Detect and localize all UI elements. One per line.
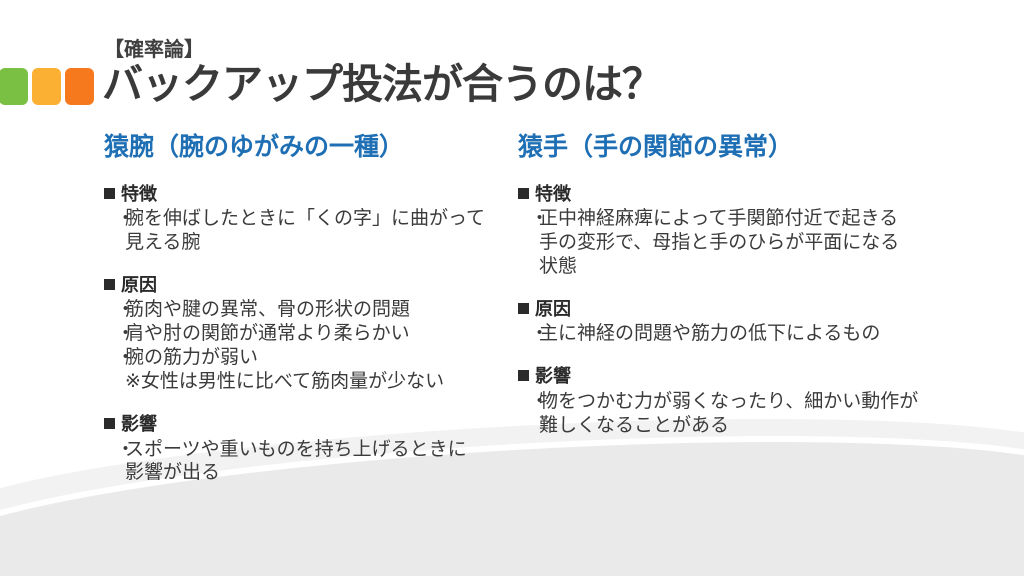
section-label-text: 影響 (121, 412, 157, 436)
orange-swatch (65, 68, 94, 105)
dot-bullet-icon: ・ (530, 390, 539, 414)
section-lines: ・物をつかむ力が弱くなったり、細かい動作が難しくなることがある (518, 390, 948, 438)
bullet-line: ・筋肉や腱の異常、骨の形状の問題 (116, 298, 504, 322)
line-text: 影響が出る (125, 462, 220, 483)
accent-swatch-group (0, 68, 94, 105)
line-text: 筋肉や腱の異常、骨の形状の問題 (125, 299, 410, 320)
section-label-text: 特徴 (535, 182, 571, 206)
section-lines: ・スポーツや重いものを持ち上げるときに影響が出る (104, 438, 504, 486)
column-right-heading: 猿手（手の関節の異常） (518, 132, 948, 162)
section-lines: ・主に神経の問題や筋力の低下によるもの (518, 322, 948, 346)
bullet-line: ・正中神経麻痺によって手関節付近で起きる (530, 207, 948, 231)
column-left-heading: 猿腕（腕のゆがみの一種） (104, 132, 504, 162)
column-right-body: 特徴・正中神経麻痺によって手関節付近で起きる手の変形で、母指と手のひらが平面にな… (518, 182, 948, 438)
line-text: 手の変形で、母指と手のひらが平面になる (539, 232, 899, 253)
line-text: 見える腕 (125, 232, 200, 253)
slide-kicker: 【確率論】 (104, 40, 204, 60)
section-lines: ・筋肉や腱の異常、骨の形状の問題・肩や肘の関節が通常より柔らかい・腕の筋力が弱い… (104, 298, 504, 394)
section-label-text: 原因 (535, 297, 571, 321)
bullet-line: ・スポーツや重いものを持ち上げるときに (116, 438, 504, 462)
line-text: 物をつかむ力が弱くなったり、細かい動作が (539, 391, 918, 412)
column-left-body: 特徴・腕を伸ばしたときに「くの字」に曲がって見える腕原因・筋肉や腱の異常、骨の形… (104, 182, 504, 485)
dot-bullet-icon: ・ (116, 207, 125, 231)
bullet-line: ・腕を伸ばしたときに「くの字」に曲がって (116, 207, 504, 231)
square-bullet-icon (104, 279, 115, 290)
yellow-swatch (32, 68, 61, 105)
dot-bullet-icon: ・ (116, 438, 125, 462)
square-bullet-icon (518, 303, 529, 314)
content-section: 原因・筋肉や腱の異常、骨の形状の問題・肩や肘の関節が通常より柔らかい・腕の筋力が… (104, 273, 504, 394)
bullet-line: ・物をつかむ力が弱くなったり、細かい動作が (530, 390, 948, 414)
bullet-line: ・肩や肘の関節が通常より柔らかい (116, 322, 504, 346)
content-section: 特徴・腕を伸ばしたときに「くの字」に曲がって見える腕 (104, 182, 504, 255)
section-label-text: 原因 (121, 273, 157, 297)
section-lines: ・腕を伸ばしたときに「くの字」に曲がって見える腕 (104, 207, 504, 255)
dot-bullet-icon: ・ (530, 322, 539, 346)
square-bullet-icon (518, 188, 529, 199)
column-right: 猿手（手の関節の異常） 特徴・正中神経麻痺によって手関節付近で起きる手の変形で、… (518, 132, 948, 438)
dot-bullet-icon: ・ (530, 207, 539, 231)
section-label: 特徴 (518, 182, 948, 206)
square-bullet-icon (104, 188, 115, 199)
green-swatch (0, 68, 28, 105)
bullet-line: ・主に神経の問題や筋力の低下によるもの (530, 322, 948, 346)
continuation-line: 難しくなることがある (530, 414, 948, 438)
section-label: 原因 (104, 273, 504, 297)
content-section: 特徴・正中神経麻痺によって手関節付近で起きる手の変形で、母指と手のひらが平面にな… (518, 182, 948, 279)
square-bullet-icon (518, 370, 529, 381)
section-label-text: 特徴 (121, 182, 157, 206)
line-text: スポーツや重いものを持ち上げるときに (125, 439, 467, 460)
column-left: 猿腕（腕のゆがみの一種） 特徴・腕を伸ばしたときに「くの字」に曲がって見える腕原… (104, 132, 504, 485)
line-text: 肩や肘の関節が通常より柔らかい (125, 323, 410, 344)
line-text: 難しくなることがある (539, 415, 729, 436)
dot-bullet-icon: ・ (116, 346, 125, 370)
content-section: 原因・主に神経の問題や筋力の低下によるもの (518, 297, 948, 346)
continuation-line: 手の変形で、母指と手のひらが平面になる (530, 231, 948, 255)
content-section: 影響・物をつかむ力が弱くなったり、細かい動作が難しくなることがある (518, 364, 948, 437)
continuation-line: 見える腕 (116, 231, 504, 255)
section-label-text: 影響 (535, 364, 571, 388)
continuation-line: 影響が出る (116, 461, 504, 485)
bullet-line: ・腕の筋力が弱い (116, 346, 504, 370)
dot-bullet-icon: ・ (116, 298, 125, 322)
line-text: 腕の筋力が弱い (125, 347, 258, 368)
continuation-line: 状態 (530, 255, 948, 279)
continuation-line: ※女性は男性に比べて筋肉量が少ない (116, 370, 504, 394)
dot-bullet-icon: ・ (116, 322, 125, 346)
line-text: 状態 (539, 256, 577, 277)
line-text: 腕を伸ばしたときに「くの字」に曲がって (125, 208, 485, 229)
line-text: 主に神経の問題や筋力の低下によるもの (539, 323, 880, 344)
line-text: 正中神経麻痺によって手関節付近で起きる (539, 208, 898, 229)
content-section: 影響・スポーツや重いものを持ち上げるときに影響が出る (104, 412, 504, 485)
section-lines: ・正中神経麻痺によって手関節付近で起きる手の変形で、母指と手のひらが平面になる状… (518, 207, 948, 279)
section-label: 影響 (518, 364, 948, 388)
page-title: バックアップ投法が合うのは？ (102, 62, 662, 106)
line-text: ※女性は男性に比べて筋肉量が少ない (125, 371, 444, 392)
slide-canvas: 【確率論】 バックアップ投法が合うのは？ 猿腕（腕のゆがみの一種） 特徴・腕を伸… (0, 0, 1024, 576)
section-label: 影響 (104, 412, 504, 436)
square-bullet-icon (104, 418, 115, 429)
section-label: 原因 (518, 297, 948, 321)
section-label: 特徴 (104, 182, 504, 206)
